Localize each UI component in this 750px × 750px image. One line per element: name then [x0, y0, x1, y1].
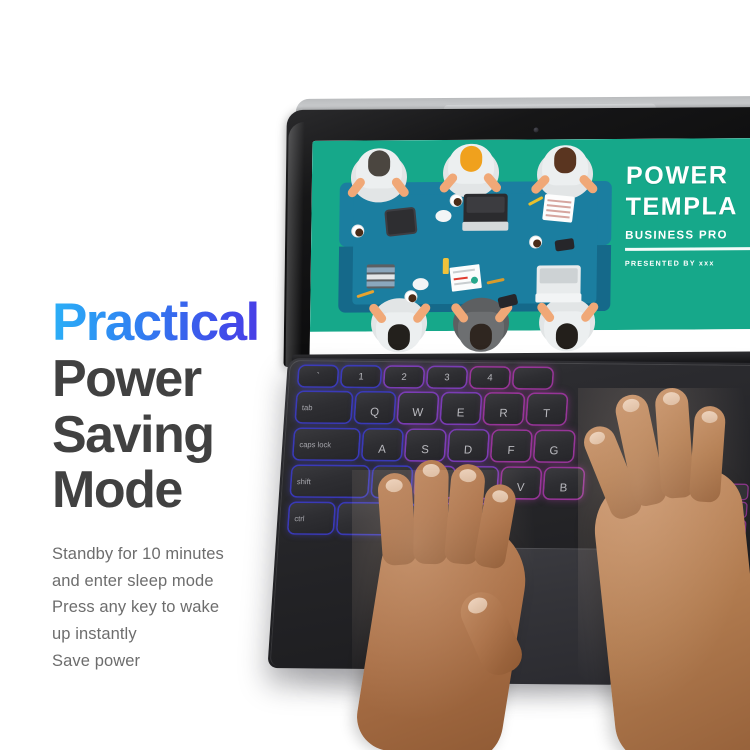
slide-title-line2: TEMPLA: [625, 190, 750, 222]
key-e[interactable]: E: [441, 393, 481, 423]
key-4[interactable]: 4: [470, 368, 509, 388]
prop-base: [535, 293, 581, 302]
bezel-highlight: [285, 122, 304, 372]
key-backtick[interactable]: `: [298, 366, 337, 386]
left-finger-middle: [413, 460, 449, 565]
keyboard-row-a: caps lock A S D F G: [293, 429, 574, 461]
right-hand: [578, 388, 750, 750]
prop-screen: [540, 268, 578, 283]
slide-divider: [625, 247, 750, 251]
document-prop: [449, 264, 481, 292]
key-ctrl[interactable]: ctrl: [288, 503, 334, 533]
head: [460, 146, 482, 172]
left-hand: [352, 470, 562, 750]
person-figure: [534, 143, 597, 201]
screen-bezel: POWER TEMPLA BUSINESS PRO PRESENTED BY x…: [283, 107, 750, 367]
prop-screen: [467, 197, 505, 213]
head: [368, 150, 390, 176]
slide-subtitle: BUSINESS PRO: [625, 229, 750, 242]
tablet-prop: [384, 207, 417, 237]
laptop-prop-dark: [463, 194, 507, 226]
key-a[interactable]: A: [362, 430, 402, 460]
promo-stage: Practical Power Saving Mode Standby for …: [0, 0, 750, 750]
laptop-device: POWER TEMPLA BUSINESS PRO PRESENTED BY x…: [0, 0, 750, 750]
key-d[interactable]: D: [448, 430, 488, 460]
binder-prop: [367, 264, 395, 288]
key-t[interactable]: T: [527, 394, 567, 424]
fingernail: [385, 479, 403, 493]
head: [554, 147, 576, 173]
fingernail: [588, 430, 607, 447]
bottle-prop: [443, 258, 449, 274]
fingernail: [459, 468, 477, 482]
fingernail: [465, 595, 489, 617]
slide-text-block: POWER TEMPLA BUSINESS PRO PRESENTED BY x…: [625, 160, 750, 268]
person-figure: [440, 142, 503, 200]
head: [470, 324, 492, 350]
left-finger-index: [377, 472, 417, 566]
key-f[interactable]: F: [491, 431, 531, 461]
fingernail: [662, 392, 680, 406]
webcam-icon: [534, 127, 539, 132]
head: [388, 324, 410, 350]
keyboard-row-q: tab Q W E R T: [296, 392, 567, 424]
key-s[interactable]: S: [405, 430, 445, 460]
person-figure: [536, 295, 599, 353]
laptop-lid: POWER TEMPLA BUSINESS PRO PRESENTED BY x…: [283, 96, 750, 367]
person-figure: [368, 296, 431, 354]
fingernail: [621, 397, 640, 413]
key-3[interactable]: 3: [427, 367, 466, 387]
key-caps-lock[interactable]: caps lock: [293, 429, 359, 460]
prop-base: [462, 222, 508, 231]
meeting-illustration: [320, 143, 635, 359]
laptop-screen: POWER TEMPLA BUSINESS PRO PRESENTED BY x…: [310, 138, 750, 363]
key-tab[interactable]: tab: [296, 392, 352, 422]
fingernail: [423, 464, 440, 477]
key-g[interactable]: G: [534, 431, 574, 461]
slide-byline: PRESENTED BY xxx: [625, 257, 750, 267]
head: [556, 323, 578, 349]
laptop-prop-white: [536, 265, 580, 297]
person-figure: [348, 146, 411, 204]
right-finger-middle: [654, 387, 695, 499]
key-q[interactable]: Q: [355, 393, 395, 423]
presentation-slide: POWER TEMPLA BUSINESS PRO PRESENTED BY x…: [310, 138, 750, 363]
slide-title-line1: POWER: [626, 160, 750, 192]
keyboard-row-number: ` 1 2 3 4: [298, 366, 552, 388]
key-1[interactable]: 1: [341, 366, 380, 386]
key-w[interactable]: W: [398, 393, 438, 423]
key-5[interactable]: [513, 368, 552, 388]
fingernail: [701, 411, 718, 424]
fingernail: [491, 489, 509, 504]
key-r[interactable]: R: [484, 394, 524, 424]
key-2[interactable]: 2: [384, 367, 423, 387]
notebook-prop: [542, 194, 575, 223]
